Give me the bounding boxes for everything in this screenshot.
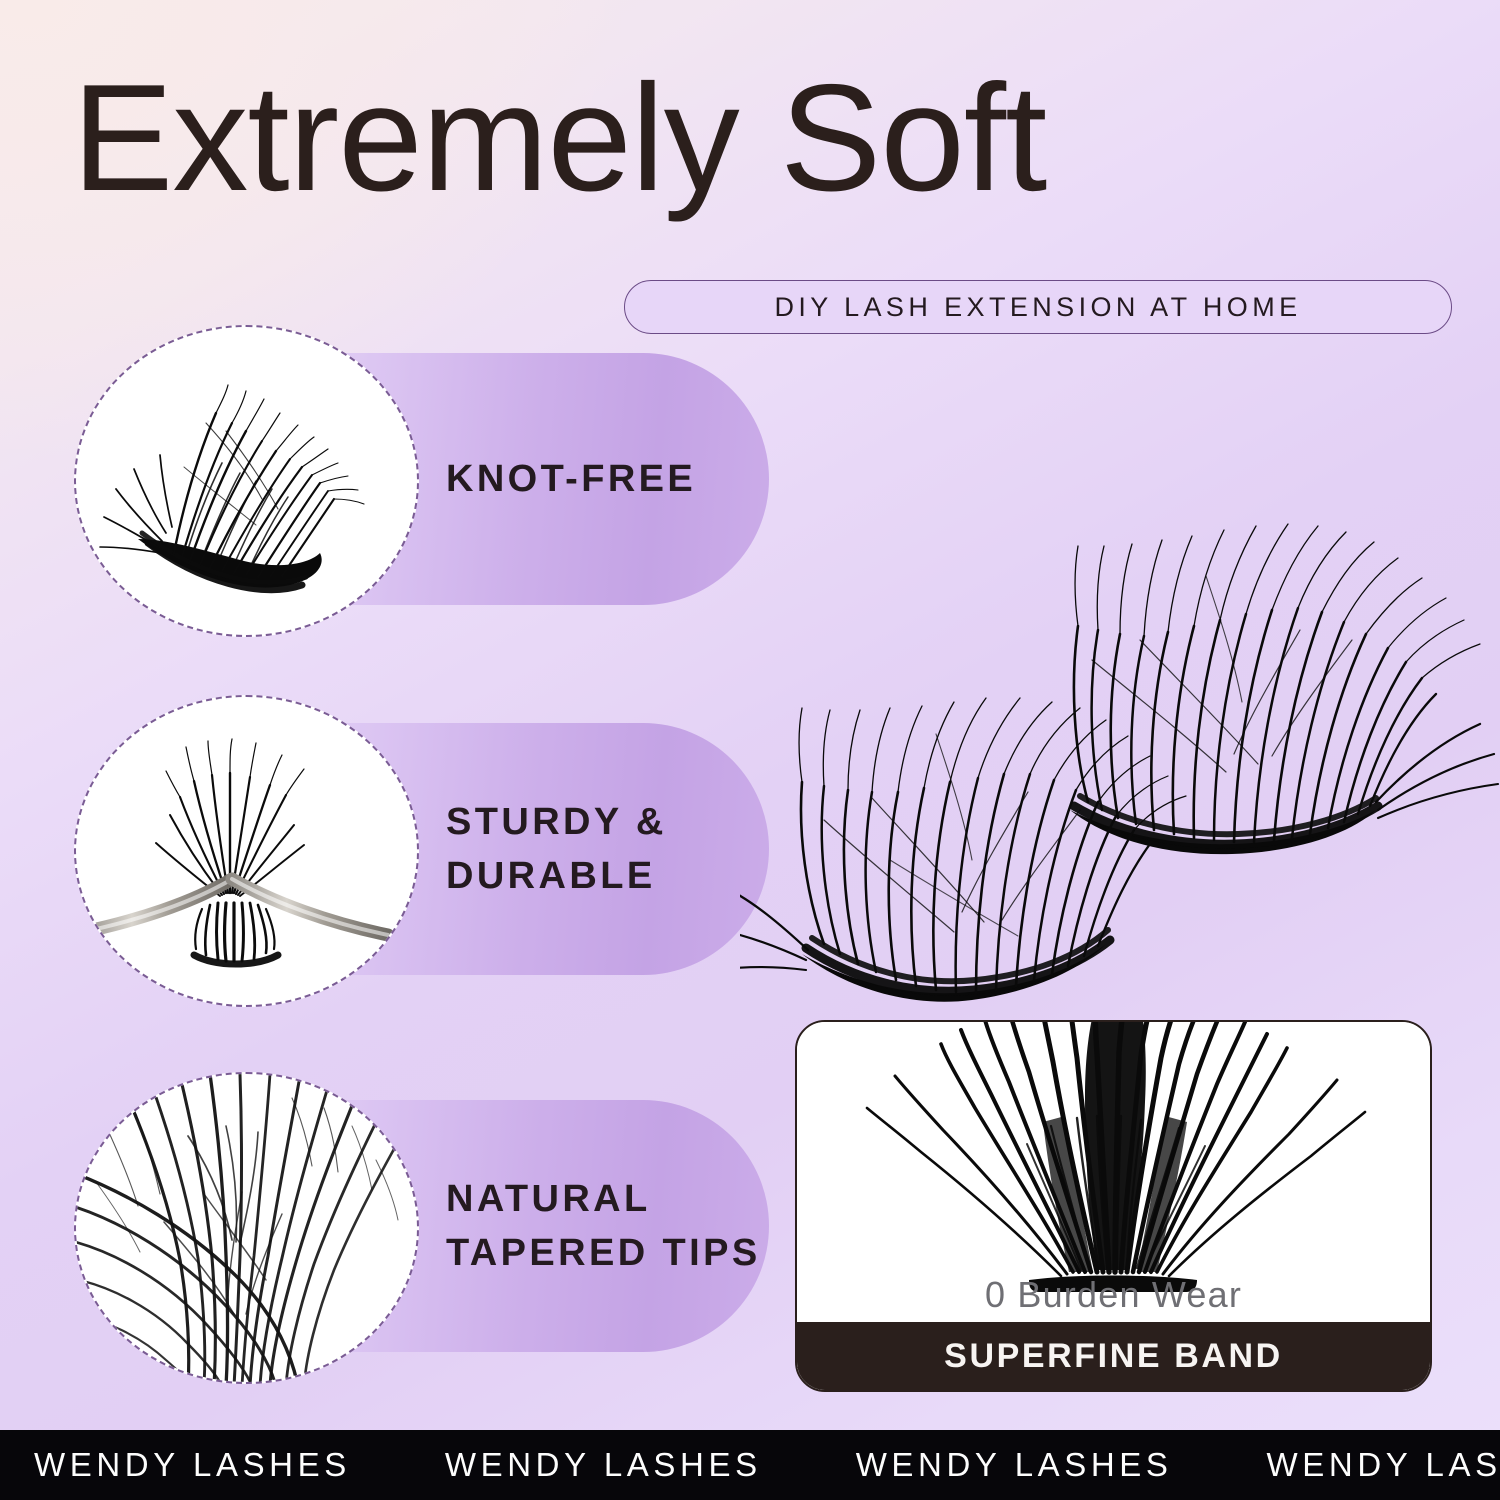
page-title: Extremely Soft xyxy=(72,62,1472,214)
pair-of-lash-strips-icon xyxy=(740,340,1500,1020)
watermark-text: WENDY LASHES xyxy=(822,1446,1233,1484)
feature-label: STURDY & DURABLE xyxy=(446,796,667,904)
card-caption: 0 Burden Wear xyxy=(797,1274,1430,1316)
watermark-text: WENDY LAS xyxy=(1233,1446,1500,1484)
card-footer-bar: SUPERFINE BAND xyxy=(797,1322,1430,1390)
watermark-text: WENDY LASHES xyxy=(411,1446,822,1484)
feature-row-knot-free: KNOT-FREE xyxy=(74,325,774,635)
watermark-strip: WENDY LASHES WENDY LASHES WENDY LASHES W… xyxy=(0,1430,1500,1500)
feature-image-circle xyxy=(74,695,419,1007)
superfine-band-card: 0 Burden Wear SUPERFINE BAND xyxy=(795,1020,1432,1392)
tapered-lash-fiber-macro-icon xyxy=(76,1074,417,1382)
subtitle-badge-label: DIY LASH EXTENSION AT HOME xyxy=(774,292,1301,323)
watermark-text: WENDY LASHES xyxy=(0,1446,411,1484)
feature-row-natural-tapered-tips: NATURAL TAPERED TIPS xyxy=(74,1072,774,1382)
tweezers-holding-lash-fan-icon xyxy=(76,697,417,1005)
feature-image-circle xyxy=(74,325,419,637)
hero-product-image xyxy=(740,340,1500,1020)
product-marketing-image: Extremely Soft DIY LASH EXTENSION AT HOM… xyxy=(0,0,1500,1500)
card-footer-label: SUPERFINE BAND xyxy=(944,1337,1283,1376)
feature-label: NATURAL TAPERED TIPS xyxy=(446,1173,761,1281)
feature-label: KNOT-FREE xyxy=(446,453,696,507)
lash-cluster-side-view-icon xyxy=(76,327,417,635)
feature-image-circle xyxy=(74,1072,419,1384)
feature-row-sturdy-durable: STURDY & DURABLE xyxy=(74,695,774,1005)
